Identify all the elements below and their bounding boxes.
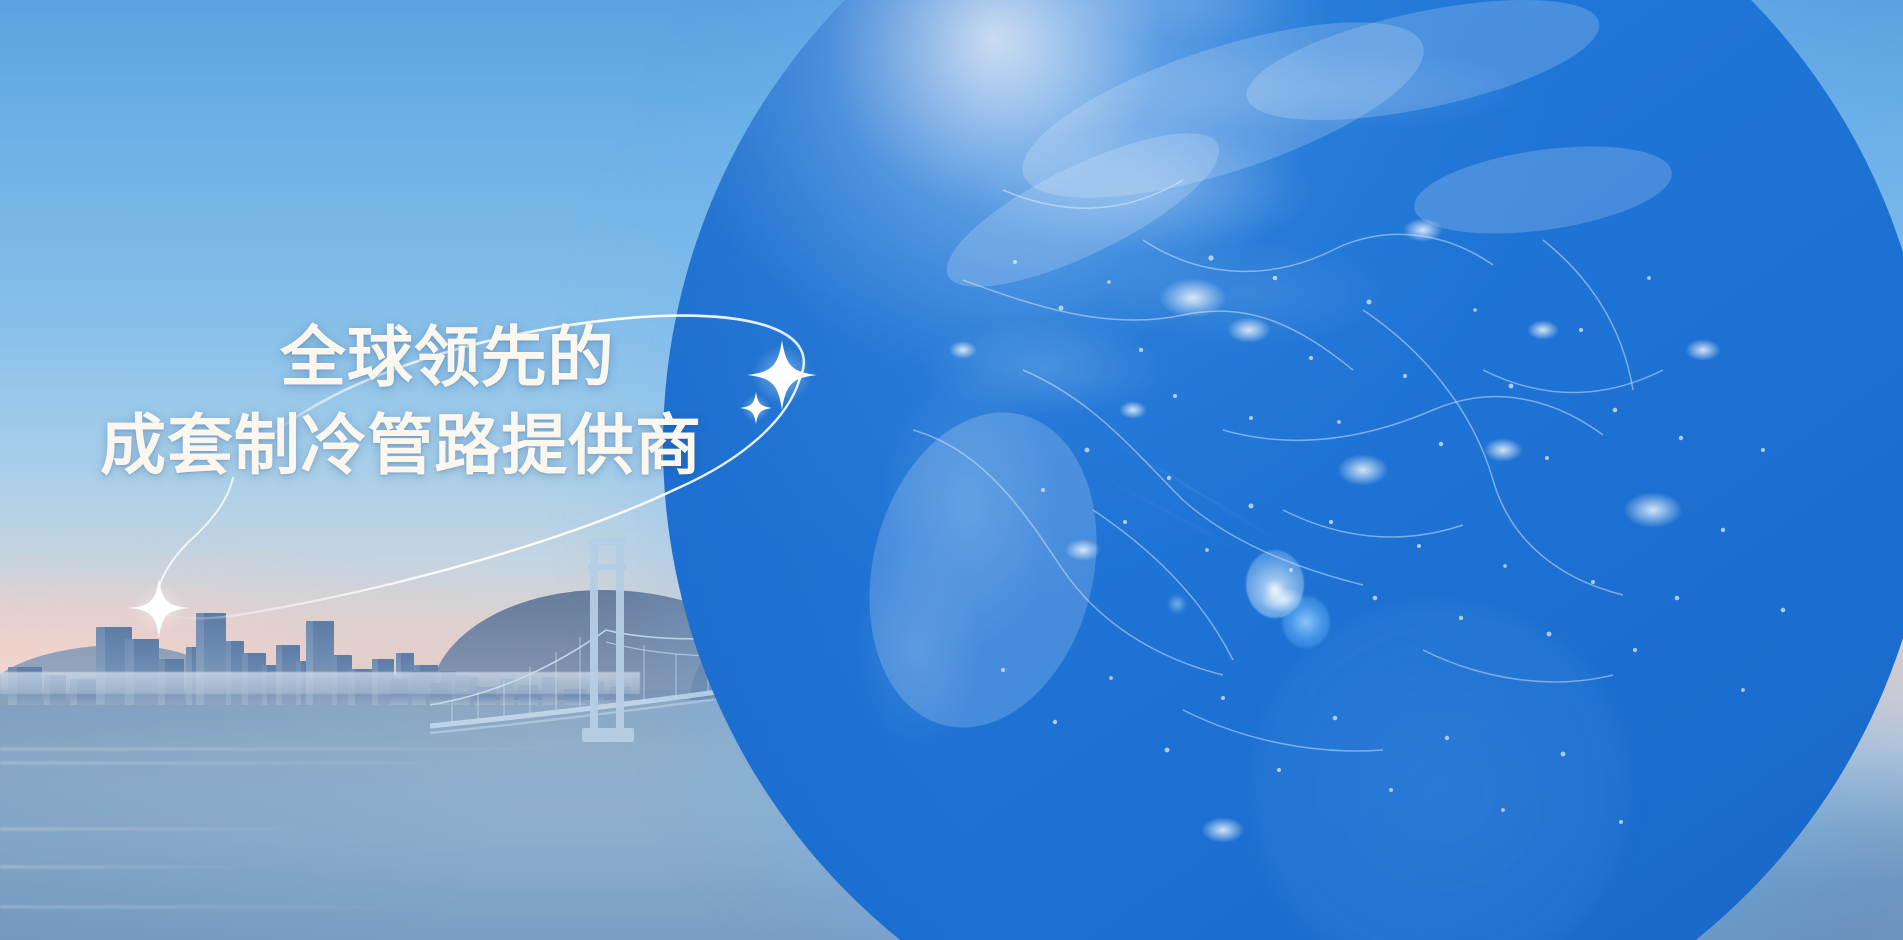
water-streak	[0, 828, 300, 830]
headline-line-1: 全球领先的	[100, 318, 702, 397]
suspension-bridge	[430, 520, 1190, 760]
water-streak	[0, 866, 240, 868]
water-streak	[0, 762, 430, 764]
hero-headline: 全球领先的 成套制冷管路提供商	[100, 318, 702, 485]
water-streak	[0, 906, 380, 908]
hero-banner: 全球领先的 成套制冷管路提供商	[0, 0, 1903, 940]
headline-line-2: 成套制冷管路提供商	[100, 406, 702, 485]
